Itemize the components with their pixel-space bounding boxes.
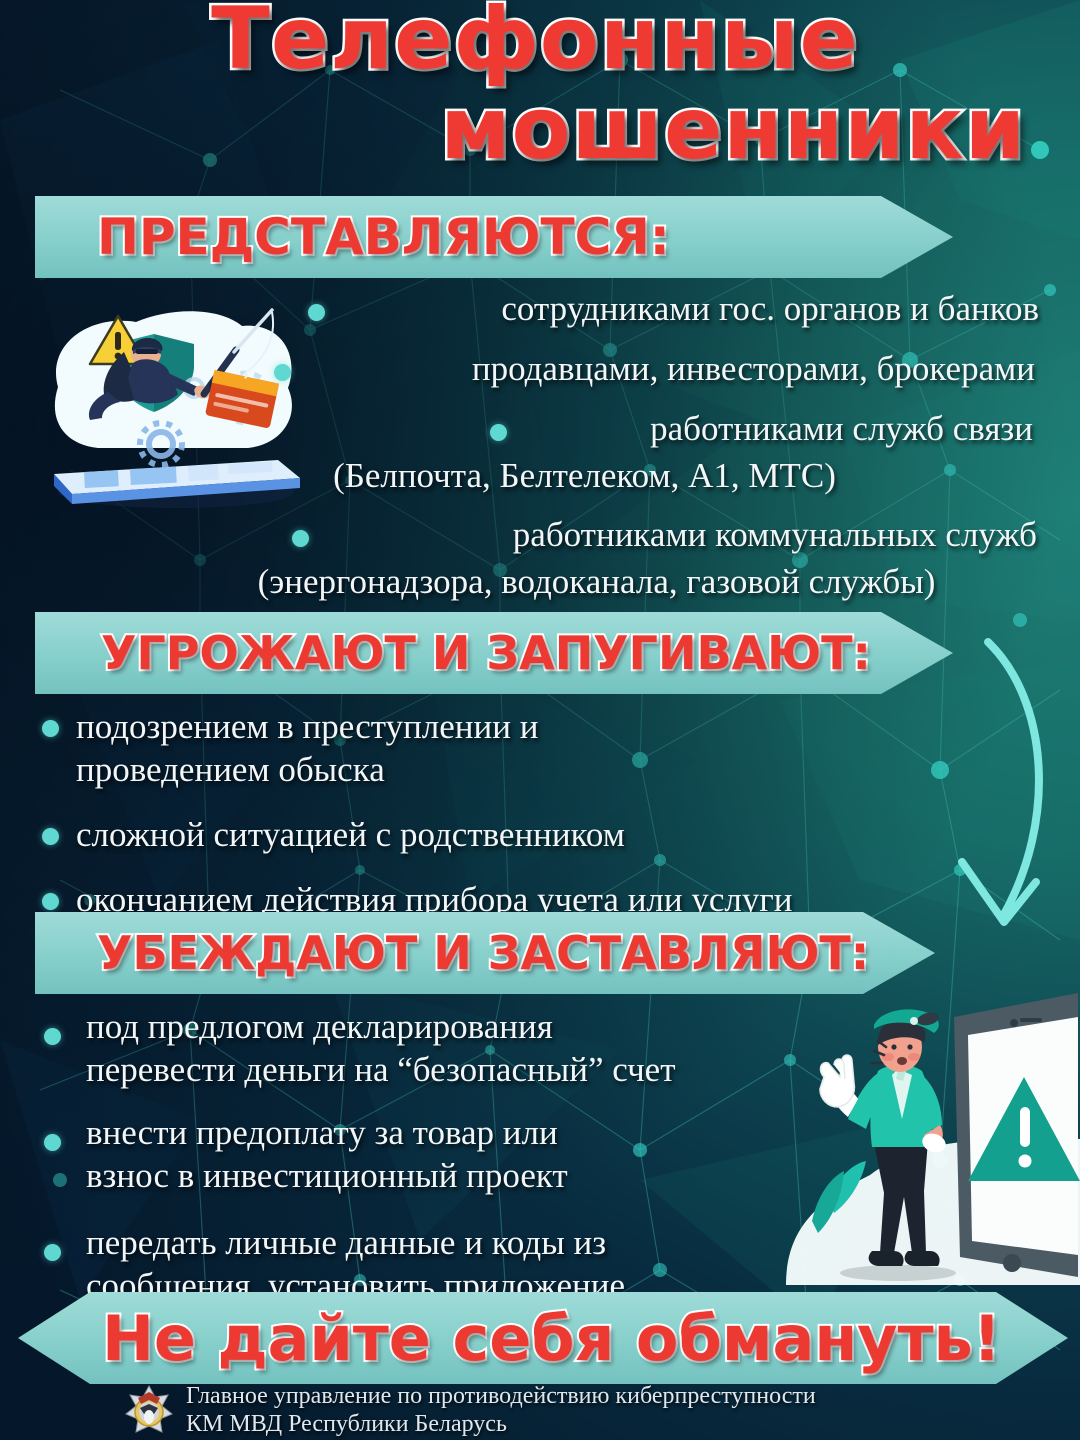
- list-item: работниками коммунальных служб: [150, 514, 1045, 555]
- call-to-action-label: Не дайте себя обмануть!: [102, 1302, 1001, 1375]
- list-item-sub: (Белпочта, Белтелеком, А1, МТС): [150, 455, 1045, 496]
- list-item-text: сотрудниками гос. органов и банков: [501, 289, 1039, 328]
- list-section-1: сотрудниками гос. органов и банков прода…: [150, 288, 1045, 602]
- bullet-dot-icon: [292, 530, 309, 547]
- list-item-text: внести предоплату за товар или: [86, 1113, 558, 1152]
- list-item: подозрением в преступлении и: [76, 706, 1036, 747]
- list-item-subtext: взнос в инвестиционный проект: [86, 1156, 568, 1195]
- police-officer-stop-gesture-illustration: [762, 985, 1080, 1285]
- title-line-1: Телефонные: [0, 0, 1040, 84]
- list-item-text: под предлогом декларирования: [86, 1007, 553, 1046]
- footer-text-block: Главное управление по противодействию ки…: [186, 1382, 816, 1438]
- banner-call-to-action: Не дайте себя обмануть!: [18, 1292, 1068, 1384]
- list-item: сложной ситуацией с родственником: [76, 814, 1036, 855]
- list-item: сотрудниками гос. органов и банков: [150, 288, 1045, 329]
- list-item: внести предоплату за товар или: [86, 1112, 786, 1153]
- mvd-emblem-icon: [124, 1384, 174, 1436]
- banner-label-3: УБЕЖДАЮТ И ЗАСТАВЛЯЮТ:: [97, 926, 869, 980]
- bullet-dot-icon: [44, 1244, 61, 1261]
- list-item-subtext: (Белпочта, Белтелеком, А1, МТС): [333, 456, 836, 495]
- list-item-sub: проведением обыска: [76, 749, 1036, 790]
- list-item: под предлогом декларирования: [86, 1006, 786, 1047]
- bullet-dot-icon: [308, 304, 325, 321]
- bullet-dot-icon: [42, 828, 59, 845]
- footer-line-1: Главное управление по противодействию ки…: [186, 1382, 816, 1410]
- list-item-subtext: (энергонадзора, водоканала, газовой служ…: [258, 562, 936, 601]
- list-item: работниками служб связи: [150, 408, 1045, 449]
- bullet-dot-icon: [44, 1134, 61, 1151]
- bullet-dot-icon: [42, 720, 59, 737]
- list-item-sub: (энергонадзора, водоканала, газовой служ…: [150, 561, 1045, 602]
- list-item-sub: взнос в инвестиционный проект: [86, 1155, 786, 1196]
- bullet-dot-icon: [42, 893, 59, 910]
- list-item-subtext: перевести деньги на “безопасный” счет: [86, 1050, 676, 1089]
- bullet-dot-icon: [274, 364, 291, 381]
- poster-canvas: Телефонные мошенники: [0, 0, 1080, 1440]
- list-item-text: работниками коммунальных служб: [513, 515, 1037, 554]
- banner-section-3: УБЕЖДАЮТ И ЗАСТАВЛЯЮТ:: [35, 912, 935, 994]
- footer-line-2: КМ МВД Республики Беларусь: [186, 1410, 816, 1438]
- list-item: передать личные данные и коды из: [86, 1222, 786, 1263]
- list-item: продавцами, инвесторами, брокерами: [150, 348, 1045, 389]
- page-title: Телефонные мошенники: [0, 0, 1040, 174]
- list-item-text: продавцами, инвесторами, брокерами: [472, 349, 1035, 388]
- list-item-text: передать личные данные и коды из: [86, 1223, 606, 1262]
- list-item-subtext: проведением обыска: [76, 750, 385, 789]
- list-item-text: работниками служб связи: [650, 409, 1033, 448]
- list-section-2: подозрением в преступлении и проведением…: [76, 706, 1036, 920]
- list-section-3: под предлогом декларирования перевести д…: [86, 1006, 786, 1306]
- bullet-dot-icon: [490, 424, 507, 441]
- footer: Главное управление по противодействию ки…: [0, 1380, 1080, 1440]
- banner-label-2: УГРОЖАЮТ И ЗАПУГИВАЮТ:: [101, 626, 871, 680]
- list-item-text: сложной ситуацией с родственником: [76, 815, 625, 854]
- banner-label-1: ПРЕДСТАВЛЯЮТСЯ:: [97, 208, 670, 266]
- smartphone-warning-icon: [954, 993, 1080, 1277]
- title-line-2: мошенники: [0, 84, 1040, 174]
- banner-section-2: УГРОЖАЮТ И ЗАПУГИВАЮТ:: [35, 612, 953, 694]
- bullet-dot-icon: [44, 1028, 61, 1045]
- list-item-text: подозрением в преступлении и: [76, 707, 538, 746]
- list-item-sub: перевести деньги на “безопасный” счет: [86, 1049, 846, 1090]
- banner-section-1: ПРЕДСТАВЛЯЮТСЯ:: [35, 196, 953, 278]
